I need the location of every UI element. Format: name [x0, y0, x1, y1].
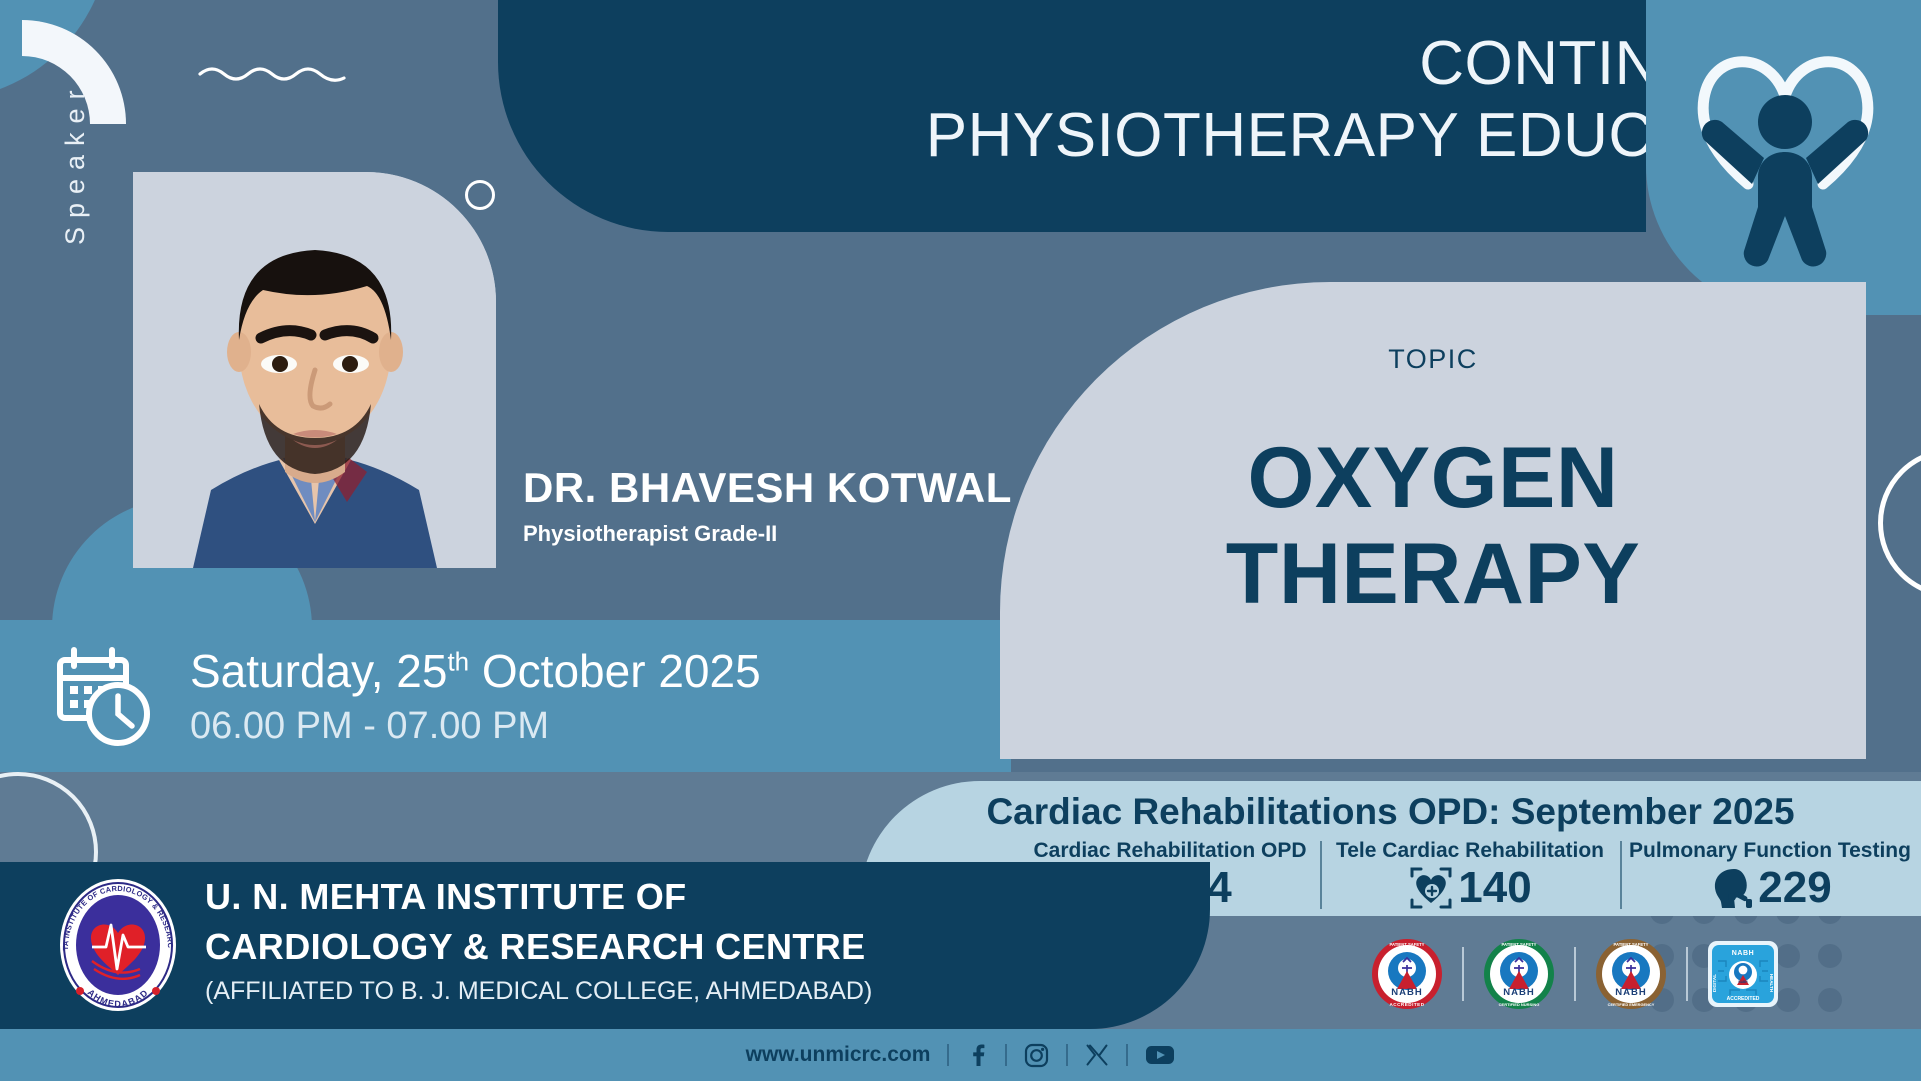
accreditation-badges: NABH ACCREDITED PATIENT SAFETY NABH CERT…	[1370, 937, 1780, 1011]
svg-text:PATIENT SAFETY: PATIENT SAFETY	[1614, 942, 1649, 947]
stat-value: 140	[1458, 866, 1531, 910]
header-icon-panel	[1646, 0, 1921, 315]
topic-label: TOPIC	[1000, 344, 1866, 375]
badge-divider	[1462, 947, 1464, 1001]
instagram-icon[interactable]	[1024, 1043, 1049, 1068]
nabh-nursing-badge: NABH CERTIFIED NURSING PATIENT SAFETY	[1482, 937, 1556, 1011]
speaker-photo	[133, 172, 496, 568]
website-url[interactable]: www.unmicrc.com	[746, 1043, 931, 1067]
badge-divider	[1686, 947, 1688, 1001]
speaker-vertical-label: Speaker	[60, 81, 91, 245]
nabh-accredited-badge: NABH ACCREDITED PATIENT SAFETY	[1370, 937, 1444, 1011]
footer-divider	[1126, 1044, 1128, 1066]
topic-panel: TOPIC OXYGEN THERAPY	[1000, 282, 1866, 759]
institute-affiliation: (AFFILIATED TO B. J. MEDICAL COLLEGE, AH…	[205, 977, 872, 1006]
person-in-heart-icon	[1678, 24, 1893, 269]
stat-label: Pulmonary Function Testing	[1626, 839, 1914, 863]
stat-card-tele-cardiac-rehab: Tele Cardiac Rehabilitation 140	[1320, 839, 1620, 911]
svg-text:DIGITAL: DIGITAL	[1712, 974, 1717, 992]
stats-heading: Cardiac Rehabilitations OPD: September 2…	[860, 791, 1921, 833]
stat-label: Cardiac Rehabilitation OPD	[1026, 839, 1314, 863]
svg-text:NABH: NABH	[1732, 950, 1755, 957]
svg-text:NABH: NABH	[1391, 987, 1422, 998]
topic-title-line-1: OXYGEN	[1000, 430, 1866, 526]
svg-text:PATIENT SAFETY: PATIENT SAFETY	[1390, 942, 1425, 947]
institute-name-line-1: U. N. MEHTA INSTITUTE OF	[205, 876, 687, 918]
svg-text:PATIENT SAFETY: PATIENT SAFETY	[1502, 942, 1537, 947]
nabh-emergency-badge: NABH CERTIFIED EMERGENCY PATIENT SAFETY	[1594, 937, 1668, 1011]
footer-divider	[1066, 1044, 1068, 1066]
svg-text:ACCREDITED: ACCREDITED	[1389, 1002, 1424, 1007]
svg-text:NABH: NABH	[1503, 987, 1534, 998]
tele-heart-icon	[1408, 865, 1454, 911]
topic-title: OXYGEN THERAPY	[1000, 430, 1866, 623]
svg-text:HEALTH: HEALTH	[1769, 974, 1774, 993]
facebook-icon[interactable]	[966, 1043, 988, 1067]
institute-name-line-2: CARDIOLOGY & RESEARCH CENTRE	[205, 926, 866, 968]
event-date-month: October 2025	[469, 645, 761, 697]
svg-text:CERTIFIED NURSING: CERTIFIED NURSING	[1499, 1002, 1540, 1007]
stat-value: 229	[1758, 866, 1831, 910]
calendar-clock-icon	[52, 646, 157, 746]
stat-card-pulmonary-function-testing: Pulmonary Function Testing 229	[1620, 839, 1920, 911]
footer-bar: www.unmicrc.com	[0, 1029, 1921, 1081]
x-twitter-icon[interactable]	[1085, 1043, 1109, 1067]
footer-divider	[947, 1044, 949, 1066]
event-time: 06.00 PM - 07.00 PM	[190, 705, 549, 748]
stat-label: Tele Cardiac Rehabilitation	[1326, 839, 1614, 863]
speaker-portrait-illustration	[133, 172, 496, 568]
speaker-role: Physiotherapist Grade-II	[523, 521, 777, 547]
topic-title-line-2: THERAPY	[1000, 526, 1866, 622]
svg-text:CERTIFIED EMERGENCY: CERTIFIED EMERGENCY	[1608, 1002, 1655, 1007]
event-date: Saturday, 25th October 2025	[190, 644, 761, 698]
speaker-name: DR. BHAVESH KOTWAL	[523, 464, 1012, 512]
svg-text:ACCREDITED: ACCREDITED	[1727, 996, 1760, 1002]
youtube-icon[interactable]	[1145, 1044, 1175, 1066]
badge-divider	[1574, 947, 1576, 1001]
svg-text:NABH: NABH	[1615, 987, 1646, 998]
svg-text:NABH: NABH	[1738, 980, 1748, 984]
un-mehta-logo: U. N. MEHTA INSTITUTE OF CARDIOLOGY & RE…	[48, 875, 188, 1015]
footer-divider	[1005, 1044, 1007, 1066]
nabh-digital-health-badge: NABH NABH DIGITAL HEALTH ACCREDITED	[1706, 937, 1780, 1011]
decor-wave-line	[198, 62, 348, 92]
poster-root: CONTINUOUS PHYSIOTHERAPY EDUCATION Speak…	[0, 0, 1921, 1081]
event-date-suffix: th	[447, 647, 469, 677]
event-date-day: Saturday, 25	[190, 645, 447, 697]
spirometry-head-icon	[1708, 865, 1754, 911]
